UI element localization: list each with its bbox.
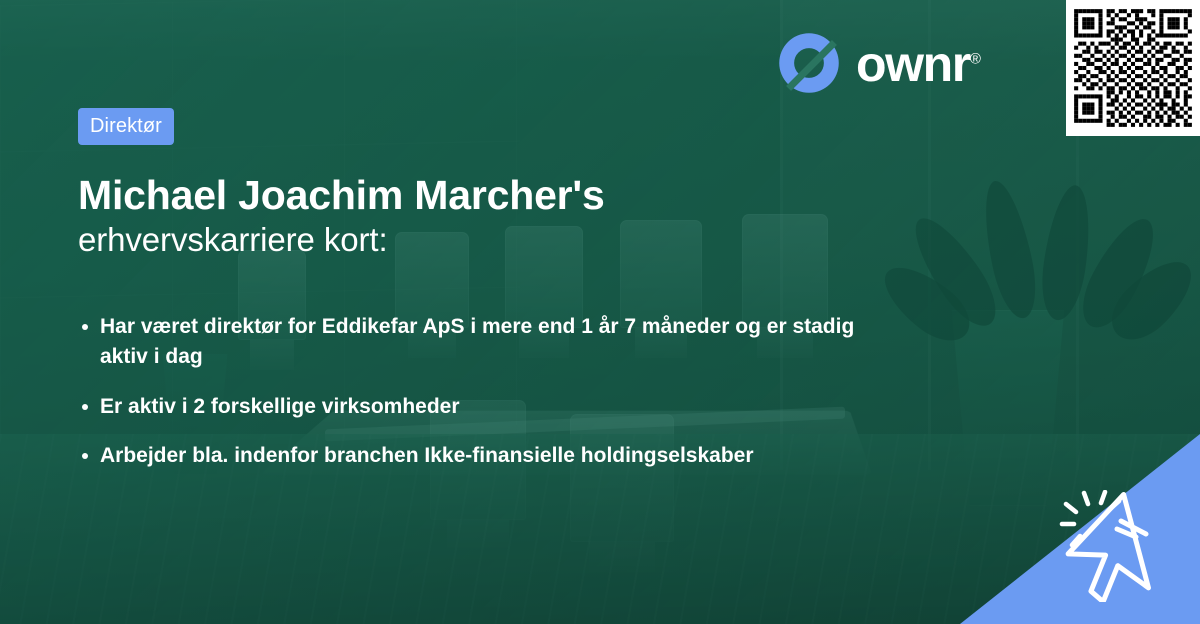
bullet-dot-icon bbox=[82, 453, 88, 459]
qr-code-icon bbox=[1066, 0, 1200, 136]
promo-card: ownr® Direktør Michael Joachim Marcher's… bbox=[0, 0, 1200, 624]
list-item-text: Er aktiv i 2 forskellige virksomheder bbox=[100, 392, 460, 422]
page-title-line2: erhvervskarriere kort: bbox=[78, 219, 978, 262]
list-item: Arbejder bla. indenfor branchen Ikke-fin… bbox=[82, 441, 1042, 471]
registered-trademark-icon: ® bbox=[970, 50, 981, 67]
list-item: Har været direktør for Eddikefar ApS i m… bbox=[82, 312, 1042, 372]
role-badge: Direktør bbox=[78, 108, 174, 145]
list-item: Er aktiv i 2 forskellige virksomheder bbox=[82, 392, 1042, 422]
bullet-dot-icon bbox=[82, 324, 88, 330]
ownr-wordmark: ownr® bbox=[856, 39, 981, 89]
click-sparkle-rays bbox=[1062, 492, 1119, 545]
qr-code-panel[interactable] bbox=[1066, 0, 1200, 136]
wordmark-text: ownr bbox=[856, 36, 970, 92]
ownr-circle-swirl-icon bbox=[778, 32, 840, 94]
career-summary-list: Har været direktør for Eddikefar ApS i m… bbox=[82, 312, 1042, 491]
list-item-text: Arbejder bla. indenfor branchen Ikke-fin… bbox=[100, 441, 754, 471]
click-cursor-icon bbox=[1058, 490, 1184, 602]
ownr-logo[interactable]: ownr® bbox=[778, 32, 981, 94]
list-item-text: Har været direktør for Eddikefar ApS i m… bbox=[100, 312, 900, 372]
headline-block: Direktør Michael Joachim Marcher's erhve… bbox=[78, 108, 978, 262]
page-title: Michael Joachim Marcher's erhvervskarrie… bbox=[78, 171, 978, 262]
bullet-dot-icon bbox=[82, 404, 88, 410]
page-title-line1: Michael Joachim Marcher's bbox=[78, 171, 978, 219]
